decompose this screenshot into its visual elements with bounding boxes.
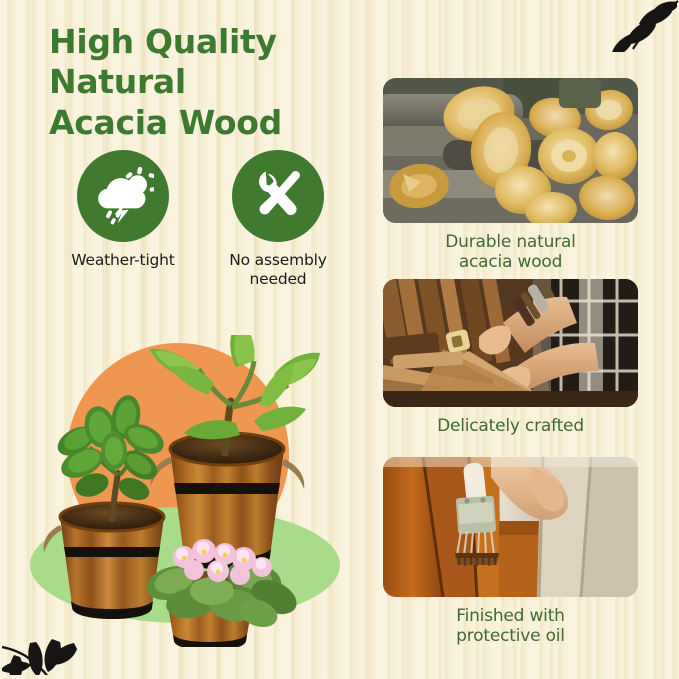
photo-card-delicately-crafted: Delicately crafted [383,279,638,436]
wrench-screwdriver-icon [232,150,324,242]
brush-applying-protective-oil-photo [383,457,638,597]
photo-caption: Durable natural acacia wood [383,232,638,273]
plant-african-violet [143,539,303,632]
leaf-sprig-top-right-icon [609,0,679,56]
feature-weather-tight: Weather-tight [48,150,198,270]
storm-cloud-sun-icon [77,150,169,242]
stacked-acacia-logs-photo [383,78,638,223]
feature-no-assembly: No assembly needed [203,150,353,288]
feature-badges: Weather-tight No assembly needed [48,150,368,290]
plant-fiddle-leaf [53,393,169,519]
photo-caption: Delicately crafted [383,416,638,436]
photo-card-durable-wood: Durable natural acacia wood [383,78,638,273]
planter-medium [44,503,164,619]
infographic-canvas: High Quality Natural Acacia Wood [0,0,679,679]
feature-label: No assembly needed [203,251,353,288]
page-title: High Quality Natural Acacia Wood [49,22,379,143]
photo-card-protective-oil: Finished with protective oil [383,457,638,647]
feature-label: Weather-tight [48,251,198,270]
carpenter-crafting-wood-photo [383,279,638,407]
leaf-sprig-bottom-left-icon [0,613,86,679]
plant-arrowhead [149,335,320,453]
photo-caption: Finished with protective oil [383,606,638,647]
hero-product-image [22,335,370,647]
